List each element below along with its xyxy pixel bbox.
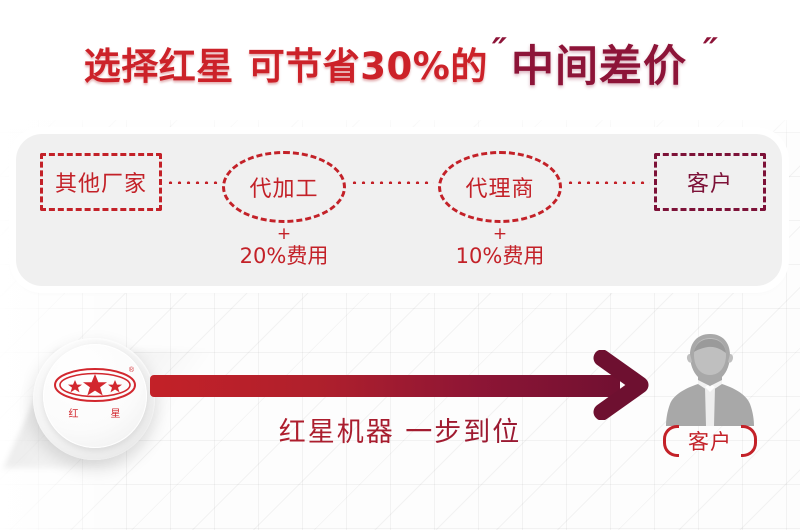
flow-diagram: 其他厂家 代加工 + 20%费用 代理商 + 10%费用 客户: [16, 134, 782, 286]
headline-highlight: 中间差价: [511, 32, 687, 94]
flow-node-label: 代加工: [249, 171, 318, 203]
customer-label: 客户: [688, 426, 732, 456]
poster-canvas: 选择红星 可节省30%的 ″ 中间差价 ″ 其他厂家 代加工 + 20%费用 代…: [0, 0, 800, 530]
cta-arrow: [140, 352, 680, 418]
logo-stars-oval-svg: [53, 365, 137, 405]
arrow-shaft: [150, 375, 620, 397]
connector-dots-2: [350, 180, 434, 184]
plus-sign: +: [420, 226, 580, 242]
fee-annotation-2: + 10%费用: [420, 226, 580, 270]
flow-node-customer: 客户: [654, 153, 766, 211]
registered-trademark-icon: ®: [129, 367, 134, 374]
fee-amount: 20%费用: [204, 242, 364, 270]
headline-part1: 选择红星: [84, 36, 234, 90]
bracket-left-icon: [663, 425, 679, 457]
connector-dots-3: [566, 180, 650, 184]
headline: 选择红星 可节省30%的 ″ 中间差价 ″: [0, 32, 800, 94]
fee-amount: 10%费用: [420, 242, 580, 270]
flow-node-label: 代理商: [465, 171, 534, 203]
headline-part2: 可节省30%的: [248, 36, 488, 90]
flow-node-label: 客户: [687, 166, 733, 198]
quote-open-glyph: ″: [486, 31, 508, 71]
flow-node-agent: 代理商: [438, 151, 562, 223]
connector-dots-1: [166, 180, 218, 184]
fee-annotation-1: + 20%费用: [204, 226, 364, 270]
quote-close-glyph: ″: [698, 31, 720, 71]
customer-badge: 客户: [648, 424, 772, 458]
businessman-silhouette-icon: [664, 330, 756, 426]
plus-sign: +: [204, 226, 364, 242]
flow-node-label: 其他厂家: [55, 166, 147, 198]
flow-node-oem-processing: 代加工: [222, 151, 346, 223]
bracket-right-icon: [741, 425, 757, 457]
flow-node-other-factory: 其他厂家: [40, 153, 162, 211]
